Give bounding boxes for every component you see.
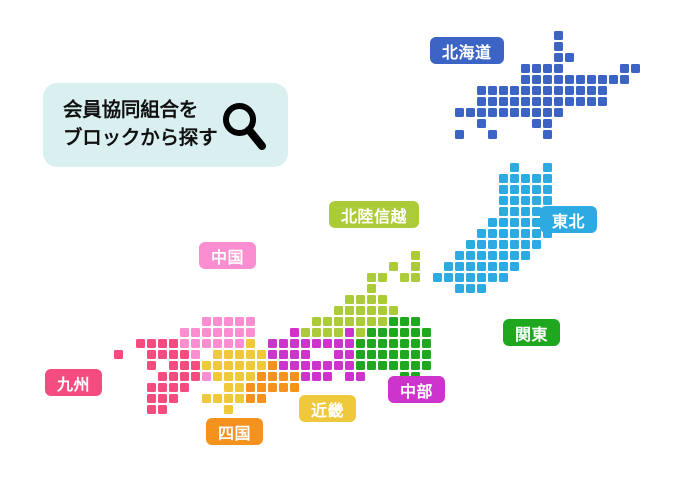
map-dot-tohoku[interactable]: [510, 251, 519, 260]
map-dot-hokuriku-shinetsu[interactable]: [334, 317, 343, 326]
map-dot-hokuriku-shinetsu[interactable]: [411, 273, 420, 282]
map-dot-kyushu[interactable]: [147, 394, 156, 403]
map-dot-hokkaido[interactable]: [587, 86, 596, 95]
map-dot-chubu[interactable]: [334, 339, 343, 348]
map-dot-kanto[interactable]: [356, 339, 365, 348]
map-dot-tohoku[interactable]: [521, 251, 530, 260]
map-dot-chugoku[interactable]: [191, 339, 200, 348]
region-label-kinki[interactable]: 近畿: [299, 395, 356, 422]
map-dot-hokkaido[interactable]: [510, 108, 519, 117]
map-dot-hokkaido[interactable]: [488, 97, 497, 106]
map-dot-tohoku[interactable]: [455, 262, 464, 271]
map-dot-tohoku[interactable]: [543, 185, 552, 194]
map-dot-kyushu[interactable]: [180, 350, 189, 359]
map-dot-chubu[interactable]: [323, 339, 332, 348]
map-dot-kyushu[interactable]: [169, 394, 178, 403]
map-dot-tohoku[interactable]: [510, 174, 519, 183]
map-dot-chubu[interactable]: [345, 361, 354, 370]
map-dot-kyushu[interactable]: [169, 383, 178, 392]
map-dot-chugoku[interactable]: [224, 328, 233, 337]
map-dot-tohoku[interactable]: [532, 196, 541, 205]
map-dot-shikoku[interactable]: [246, 394, 255, 403]
map-dot-tohoku[interactable]: [521, 207, 530, 216]
map-dot-kinki[interactable]: [224, 361, 233, 370]
map-dot-tohoku[interactable]: [510, 240, 519, 249]
map-dot-hokkaido[interactable]: [554, 108, 563, 117]
map-dot-kanto[interactable]: [400, 361, 409, 370]
map-dot-chubu[interactable]: [301, 361, 310, 370]
map-dot-tohoku[interactable]: [488, 240, 497, 249]
map-dot-kyushu[interactable]: [191, 372, 200, 381]
map-dot-kyushu[interactable]: [158, 350, 167, 359]
region-label-kanto[interactable]: 関東: [503, 319, 560, 346]
map-dot-kyushu[interactable]: [114, 350, 123, 359]
map-dot-kinki[interactable]: [202, 394, 211, 403]
map-dot-kyushu[interactable]: [136, 339, 145, 348]
map-dot-tohoku[interactable]: [499, 218, 508, 227]
map-dot-kinki[interactable]: [213, 361, 222, 370]
map-dot-hokkaido[interactable]: [521, 64, 530, 73]
map-dot-tohoku[interactable]: [499, 196, 508, 205]
map-dot-kinki[interactable]: [235, 372, 244, 381]
map-dot-shikoku[interactable]: [268, 383, 277, 392]
map-dot-hokkaido[interactable]: [543, 75, 552, 84]
map-dot-tohoku[interactable]: [521, 240, 530, 249]
map-dot-tohoku[interactable]: [499, 273, 508, 282]
map-dot-hokkaido[interactable]: [488, 130, 497, 139]
map-dot-kyushu[interactable]: [169, 372, 178, 381]
map-dot-hokkaido[interactable]: [499, 108, 508, 117]
map-dot-kanto[interactable]: [411, 328, 420, 337]
map-dot-hokkaido[interactable]: [543, 64, 552, 73]
map-dot-hokkaido[interactable]: [576, 86, 585, 95]
map-dot-kanto[interactable]: [411, 361, 420, 370]
map-dot-tohoku[interactable]: [477, 229, 486, 238]
map-dot-kinki[interactable]: [235, 394, 244, 403]
map-dot-hokkaido[interactable]: [565, 97, 574, 106]
map-dot-tohoku[interactable]: [477, 251, 486, 260]
map-dot-hokkaido[interactable]: [477, 97, 486, 106]
map-dot-tohoku[interactable]: [510, 207, 519, 216]
map-dot-tohoku[interactable]: [499, 207, 508, 216]
map-dot-tohoku[interactable]: [488, 251, 497, 260]
map-dot-hokuriku-shinetsu[interactable]: [334, 306, 343, 315]
map-dot-hokuriku-shinetsu[interactable]: [323, 317, 332, 326]
map-dot-chugoku[interactable]: [213, 317, 222, 326]
map-dot-tohoku[interactable]: [543, 174, 552, 183]
map-dot-kinki[interactable]: [246, 361, 255, 370]
map-dot-hokuriku-shinetsu[interactable]: [378, 295, 387, 304]
map-dot-hokkaido[interactable]: [554, 75, 563, 84]
map-dot-kanto[interactable]: [389, 361, 398, 370]
map-dot-kyushu[interactable]: [180, 361, 189, 370]
map-dot-chubu[interactable]: [268, 350, 277, 359]
map-dot-kinki[interactable]: [224, 405, 233, 414]
map-dot-hokuriku-shinetsu[interactable]: [378, 317, 387, 326]
map-dot-kinki[interactable]: [246, 339, 255, 348]
map-dot-hokuriku-shinetsu[interactable]: [312, 317, 321, 326]
map-dot-kinki[interactable]: [202, 361, 211, 370]
map-dot-tohoku[interactable]: [488, 273, 497, 282]
map-dot-tohoku[interactable]: [455, 284, 464, 293]
map-dot-kanto[interactable]: [411, 350, 420, 359]
map-dot-hokkaido[interactable]: [554, 42, 563, 51]
map-dot-hokkaido[interactable]: [554, 31, 563, 40]
map-dot-kanto[interactable]: [367, 361, 376, 370]
map-dot-hokuriku-shinetsu[interactable]: [356, 328, 365, 337]
map-dot-chugoku[interactable]: [246, 317, 255, 326]
map-dot-hokkaido[interactable]: [576, 75, 585, 84]
map-dot-chugoku[interactable]: [235, 339, 244, 348]
map-dot-hokuriku-shinetsu[interactable]: [367, 295, 376, 304]
map-dot-kanto[interactable]: [378, 361, 387, 370]
map-dot-chubu[interactable]: [268, 339, 277, 348]
map-dot-tohoku[interactable]: [510, 262, 519, 271]
map-dot-kyushu[interactable]: [158, 405, 167, 414]
map-dot-chubu[interactable]: [356, 372, 365, 381]
map-dot-hokuriku-shinetsu[interactable]: [301, 328, 310, 337]
map-dot-kanto[interactable]: [422, 339, 431, 348]
region-label-hokuriku-shinetsu[interactable]: 北陸信越: [329, 201, 419, 228]
map-dot-kinki[interactable]: [213, 350, 222, 359]
map-dot-tohoku[interactable]: [499, 240, 508, 249]
map-dot-hokuriku-shinetsu[interactable]: [356, 317, 365, 326]
map-dot-hokkaido[interactable]: [477, 119, 486, 128]
map-dot-hokkaido[interactable]: [477, 108, 486, 117]
map-dot-chubu[interactable]: [312, 339, 321, 348]
map-dot-hokkaido[interactable]: [554, 97, 563, 106]
map-dot-hokkaido[interactable]: [455, 108, 464, 117]
map-dot-kyushu[interactable]: [169, 350, 178, 359]
map-dot-chubu[interactable]: [279, 361, 288, 370]
map-dot-shikoku[interactable]: [257, 394, 266, 403]
map-dot-hokuriku-shinetsu[interactable]: [345, 306, 354, 315]
map-dot-kyushu[interactable]: [180, 372, 189, 381]
map-dot-hokkaido[interactable]: [587, 75, 596, 84]
map-dot-hokkaido[interactable]: [576, 97, 585, 106]
map-dot-hokkaido[interactable]: [521, 75, 530, 84]
map-dot-kanto[interactable]: [367, 339, 376, 348]
map-dot-kyushu[interactable]: [158, 372, 167, 381]
map-dot-kanto[interactable]: [422, 328, 431, 337]
map-dot-tohoku[interactable]: [543, 163, 552, 172]
map-dot-kinki[interactable]: [224, 383, 233, 392]
map-dot-kinki[interactable]: [213, 372, 222, 381]
map-dot-hokkaido[interactable]: [543, 108, 552, 117]
map-dot-chugoku[interactable]: [213, 328, 222, 337]
map-dot-hokkaido[interactable]: [510, 86, 519, 95]
map-dot-kinki[interactable]: [257, 361, 266, 370]
map-dot-tohoku[interactable]: [521, 196, 530, 205]
map-dot-tohoku[interactable]: [521, 218, 530, 227]
map-dot-hokuriku-shinetsu[interactable]: [378, 306, 387, 315]
map-dot-chugoku[interactable]: [202, 372, 211, 381]
map-dot-tohoku[interactable]: [499, 174, 508, 183]
map-dot-chubu[interactable]: [279, 339, 288, 348]
map-dot-hokuriku-shinetsu[interactable]: [356, 306, 365, 315]
map-dot-hokkaido[interactable]: [631, 64, 640, 73]
map-dot-chugoku[interactable]: [202, 339, 211, 348]
map-dot-tohoku[interactable]: [543, 196, 552, 205]
map-dot-hokkaido[interactable]: [488, 108, 497, 117]
map-dot-chubu[interactable]: [323, 361, 332, 370]
map-dot-hokkaido[interactable]: [609, 75, 618, 84]
map-dot-chubu[interactable]: [323, 372, 332, 381]
map-dot-tohoku[interactable]: [510, 218, 519, 227]
map-dot-hokkaido[interactable]: [598, 97, 607, 106]
map-dot-kanto[interactable]: [389, 350, 398, 359]
map-dot-hokkaido[interactable]: [521, 86, 530, 95]
map-dot-hokkaido[interactable]: [543, 86, 552, 95]
map-dot-tohoku[interactable]: [455, 251, 464, 260]
map-dot-chugoku[interactable]: [180, 339, 189, 348]
search-by-block-button[interactable]: 会員協同組合を ブロックから探す: [43, 83, 288, 167]
map-dot-chubu[interactable]: [290, 339, 299, 348]
region-label-kyushu[interactable]: 九州: [45, 369, 102, 396]
map-dot-tohoku[interactable]: [499, 229, 508, 238]
map-dot-kanto[interactable]: [411, 317, 420, 326]
map-dot-kinki[interactable]: [246, 350, 255, 359]
map-dot-kyushu[interactable]: [191, 361, 200, 370]
map-dot-kanto[interactable]: [400, 350, 409, 359]
map-dot-kanto[interactable]: [400, 328, 409, 337]
map-dot-kanto[interactable]: [422, 350, 431, 359]
map-dot-kinki[interactable]: [224, 394, 233, 403]
map-dot-tohoku[interactable]: [532, 174, 541, 183]
map-dot-hokkaido[interactable]: [543, 97, 552, 106]
map-dot-chubu[interactable]: [345, 328, 354, 337]
map-dot-kyushu[interactable]: [147, 361, 156, 370]
map-dot-kinki[interactable]: [257, 350, 266, 359]
map-dot-hokkaido[interactable]: [554, 86, 563, 95]
map-dot-hokuriku-shinetsu[interactable]: [378, 273, 387, 282]
map-dot-chugoku[interactable]: [246, 328, 255, 337]
map-dot-hokuriku-shinetsu[interactable]: [345, 317, 354, 326]
map-dot-hokkaido[interactable]: [598, 75, 607, 84]
map-dot-tohoku[interactable]: [477, 262, 486, 271]
map-dot-chugoku[interactable]: [191, 328, 200, 337]
map-dot-hokuriku-shinetsu[interactable]: [367, 306, 376, 315]
map-dot-hokuriku-shinetsu[interactable]: [389, 262, 398, 271]
map-dot-hokuriku-shinetsu[interactable]: [356, 295, 365, 304]
map-dot-shikoku[interactable]: [290, 372, 299, 381]
map-dot-hokkaido[interactable]: [565, 86, 574, 95]
map-dot-kanto[interactable]: [411, 339, 420, 348]
map-dot-kanto[interactable]: [389, 317, 398, 326]
map-dot-kyushu[interactable]: [158, 339, 167, 348]
map-dot-kanto[interactable]: [389, 328, 398, 337]
map-dot-kanto[interactable]: [356, 361, 365, 370]
map-dot-tohoku[interactable]: [499, 251, 508, 260]
map-dot-hokkaido[interactable]: [455, 130, 464, 139]
map-dot-tohoku[interactable]: [477, 273, 486, 282]
map-dot-tohoku[interactable]: [466, 262, 475, 271]
map-dot-hokuriku-shinetsu[interactable]: [400, 273, 409, 282]
map-dot-hokuriku-shinetsu[interactable]: [367, 284, 376, 293]
map-dot-kanto[interactable]: [400, 317, 409, 326]
map-dot-tohoku[interactable]: [444, 262, 453, 271]
map-dot-hokkaido[interactable]: [521, 108, 530, 117]
map-dot-chubu[interactable]: [334, 361, 343, 370]
map-dot-hokkaido[interactable]: [587, 97, 596, 106]
map-dot-tohoku[interactable]: [510, 229, 519, 238]
map-dot-hokkaido[interactable]: [554, 64, 563, 73]
map-dot-hokkaido[interactable]: [532, 108, 541, 117]
map-dot-hokuriku-shinetsu[interactable]: [389, 306, 398, 315]
map-dot-hokkaido[interactable]: [488, 86, 497, 95]
map-dot-kinki[interactable]: [235, 350, 244, 359]
map-dot-kinki[interactable]: [235, 361, 244, 370]
map-dot-hokuriku-shinetsu[interactable]: [367, 317, 376, 326]
map-dot-hokkaido[interactable]: [532, 86, 541, 95]
map-dot-chubu[interactable]: [345, 339, 354, 348]
map-dot-chugoku[interactable]: [224, 317, 233, 326]
map-dot-tohoku[interactable]: [521, 174, 530, 183]
map-dot-chugoku[interactable]: [202, 317, 211, 326]
map-dot-chubu[interactable]: [290, 328, 299, 337]
map-dot-hokkaido[interactable]: [532, 75, 541, 84]
map-dot-tohoku[interactable]: [477, 240, 486, 249]
map-dot-hokuriku-shinetsu[interactable]: [323, 328, 332, 337]
map-dot-hokuriku-shinetsu[interactable]: [411, 251, 420, 260]
map-dot-hokkaido[interactable]: [565, 53, 574, 62]
map-dot-chugoku[interactable]: [180, 328, 189, 337]
map-dot-tohoku[interactable]: [521, 185, 530, 194]
map-dot-tohoku[interactable]: [510, 163, 519, 172]
map-dot-shikoku[interactable]: [257, 372, 266, 381]
map-dot-tohoku[interactable]: [477, 284, 486, 293]
map-dot-hokkaido[interactable]: [466, 108, 475, 117]
map-dot-kyushu[interactable]: [147, 405, 156, 414]
map-dot-tohoku[interactable]: [488, 262, 497, 271]
map-dot-chugoku[interactable]: [191, 350, 200, 359]
map-dot-kanto[interactable]: [378, 350, 387, 359]
map-dot-hokkaido[interactable]: [554, 53, 563, 62]
map-dot-kyushu[interactable]: [169, 361, 178, 370]
map-dot-hokkaido[interactable]: [521, 97, 530, 106]
map-dot-shikoku[interactable]: [257, 383, 266, 392]
map-dot-hokuriku-shinetsu[interactable]: [345, 295, 354, 304]
map-dot-hokuriku-shinetsu[interactable]: [334, 328, 343, 337]
map-dot-hokuriku-shinetsu[interactable]: [411, 262, 420, 271]
map-dot-tohoku[interactable]: [488, 218, 497, 227]
map-dot-tohoku[interactable]: [532, 240, 541, 249]
map-dot-kanto[interactable]: [389, 339, 398, 348]
region-label-chubu[interactable]: 中部: [388, 376, 445, 403]
map-dot-tohoku[interactable]: [510, 196, 519, 205]
region-label-chugoku[interactable]: 中国: [199, 242, 256, 269]
map-dot-kanto[interactable]: [400, 339, 409, 348]
map-dot-kanto[interactable]: [378, 339, 387, 348]
map-dot-chugoku[interactable]: [213, 339, 222, 348]
map-dot-kanto[interactable]: [367, 350, 376, 359]
map-dot-chubu[interactable]: [345, 372, 354, 381]
map-dot-kanto[interactable]: [356, 350, 365, 359]
map-dot-chubu[interactable]: [279, 350, 288, 359]
map-dot-tohoku[interactable]: [466, 284, 475, 293]
map-dot-kyushu[interactable]: [147, 383, 156, 392]
map-dot-chubu[interactable]: [290, 350, 299, 359]
map-dot-tohoku[interactable]: [499, 185, 508, 194]
map-dot-hokkaido[interactable]: [565, 75, 574, 84]
map-dot-shikoku[interactable]: [268, 361, 277, 370]
map-dot-hokkaido[interactable]: [510, 97, 519, 106]
region-label-shikoku[interactable]: 四国: [206, 418, 263, 445]
map-dot-chubu[interactable]: [345, 350, 354, 359]
map-dot-hokkaido[interactable]: [620, 64, 629, 73]
map-dot-shikoku[interactable]: [279, 383, 288, 392]
map-dot-shikoku[interactable]: [279, 372, 288, 381]
map-dot-tohoku[interactable]: [466, 251, 475, 260]
map-dot-hokkaido[interactable]: [543, 130, 552, 139]
map-dot-hokkaido[interactable]: [499, 86, 508, 95]
map-dot-shikoku[interactable]: [246, 383, 255, 392]
map-dot-kyushu[interactable]: [158, 394, 167, 403]
map-dot-kinki[interactable]: [224, 350, 233, 359]
map-dot-tohoku[interactable]: [455, 273, 464, 282]
map-dot-tohoku[interactable]: [488, 229, 497, 238]
map-dot-chubu[interactable]: [312, 361, 321, 370]
map-dot-hokkaido[interactable]: [532, 97, 541, 106]
map-dot-tohoku[interactable]: [521, 229, 530, 238]
map-dot-hokkaido[interactable]: [477, 86, 486, 95]
map-dot-kyushu[interactable]: [180, 383, 189, 392]
map-dot-kyushu[interactable]: [147, 339, 156, 348]
map-dot-chubu[interactable]: [290, 361, 299, 370]
map-dot-kinki[interactable]: [213, 394, 222, 403]
map-dot-tohoku[interactable]: [466, 240, 475, 249]
map-dot-kanto[interactable]: [422, 361, 431, 370]
map-dot-hokuriku-shinetsu[interactable]: [367, 273, 376, 282]
map-dot-chubu[interactable]: [334, 350, 343, 359]
map-dot-hokkaido[interactable]: [499, 97, 508, 106]
map-dot-tohoku[interactable]: [532, 229, 541, 238]
map-dot-hokkaido[interactable]: [543, 119, 552, 128]
map-dot-shikoku[interactable]: [268, 372, 277, 381]
map-dot-tohoku[interactable]: [444, 273, 453, 282]
map-dot-hokuriku-shinetsu[interactable]: [312, 328, 321, 337]
map-dot-hokkaido[interactable]: [532, 64, 541, 73]
map-dot-kinki[interactable]: [246, 372, 255, 381]
map-dot-tohoku[interactable]: [532, 185, 541, 194]
map-dot-chubu[interactable]: [301, 339, 310, 348]
map-dot-chubu[interactable]: [301, 350, 310, 359]
map-dot-hokkaido[interactable]: [598, 86, 607, 95]
map-dot-kanto[interactable]: [367, 328, 376, 337]
region-label-hokkaido[interactable]: 北海道: [430, 37, 504, 64]
map-dot-tohoku[interactable]: [466, 273, 475, 282]
map-dot-kanto[interactable]: [378, 328, 387, 337]
map-dot-kyushu[interactable]: [158, 383, 167, 392]
map-dot-chubu[interactable]: [301, 372, 310, 381]
map-dot-kyushu[interactable]: [169, 339, 178, 348]
map-dot-kinki[interactable]: [235, 383, 244, 392]
map-dot-chugoku[interactable]: [224, 339, 233, 348]
map-dot-chubu[interactable]: [312, 372, 321, 381]
region-label-tohoku[interactable]: 東北: [540, 206, 597, 233]
map-dot-shikoku[interactable]: [290, 383, 299, 392]
map-dot-hokkaido[interactable]: [532, 119, 541, 128]
map-dot-chugoku[interactable]: [235, 328, 244, 337]
map-dot-kyushu[interactable]: [147, 350, 156, 359]
map-dot-tohoku[interactable]: [510, 185, 519, 194]
map-dot-chugoku[interactable]: [235, 317, 244, 326]
map-dot-hokkaido[interactable]: [620, 75, 629, 84]
map-dot-chugoku[interactable]: [202, 328, 211, 337]
map-dot-tohoku[interactable]: [433, 273, 442, 282]
map-dot-kinki[interactable]: [224, 372, 233, 381]
map-dot-tohoku[interactable]: [499, 262, 508, 271]
